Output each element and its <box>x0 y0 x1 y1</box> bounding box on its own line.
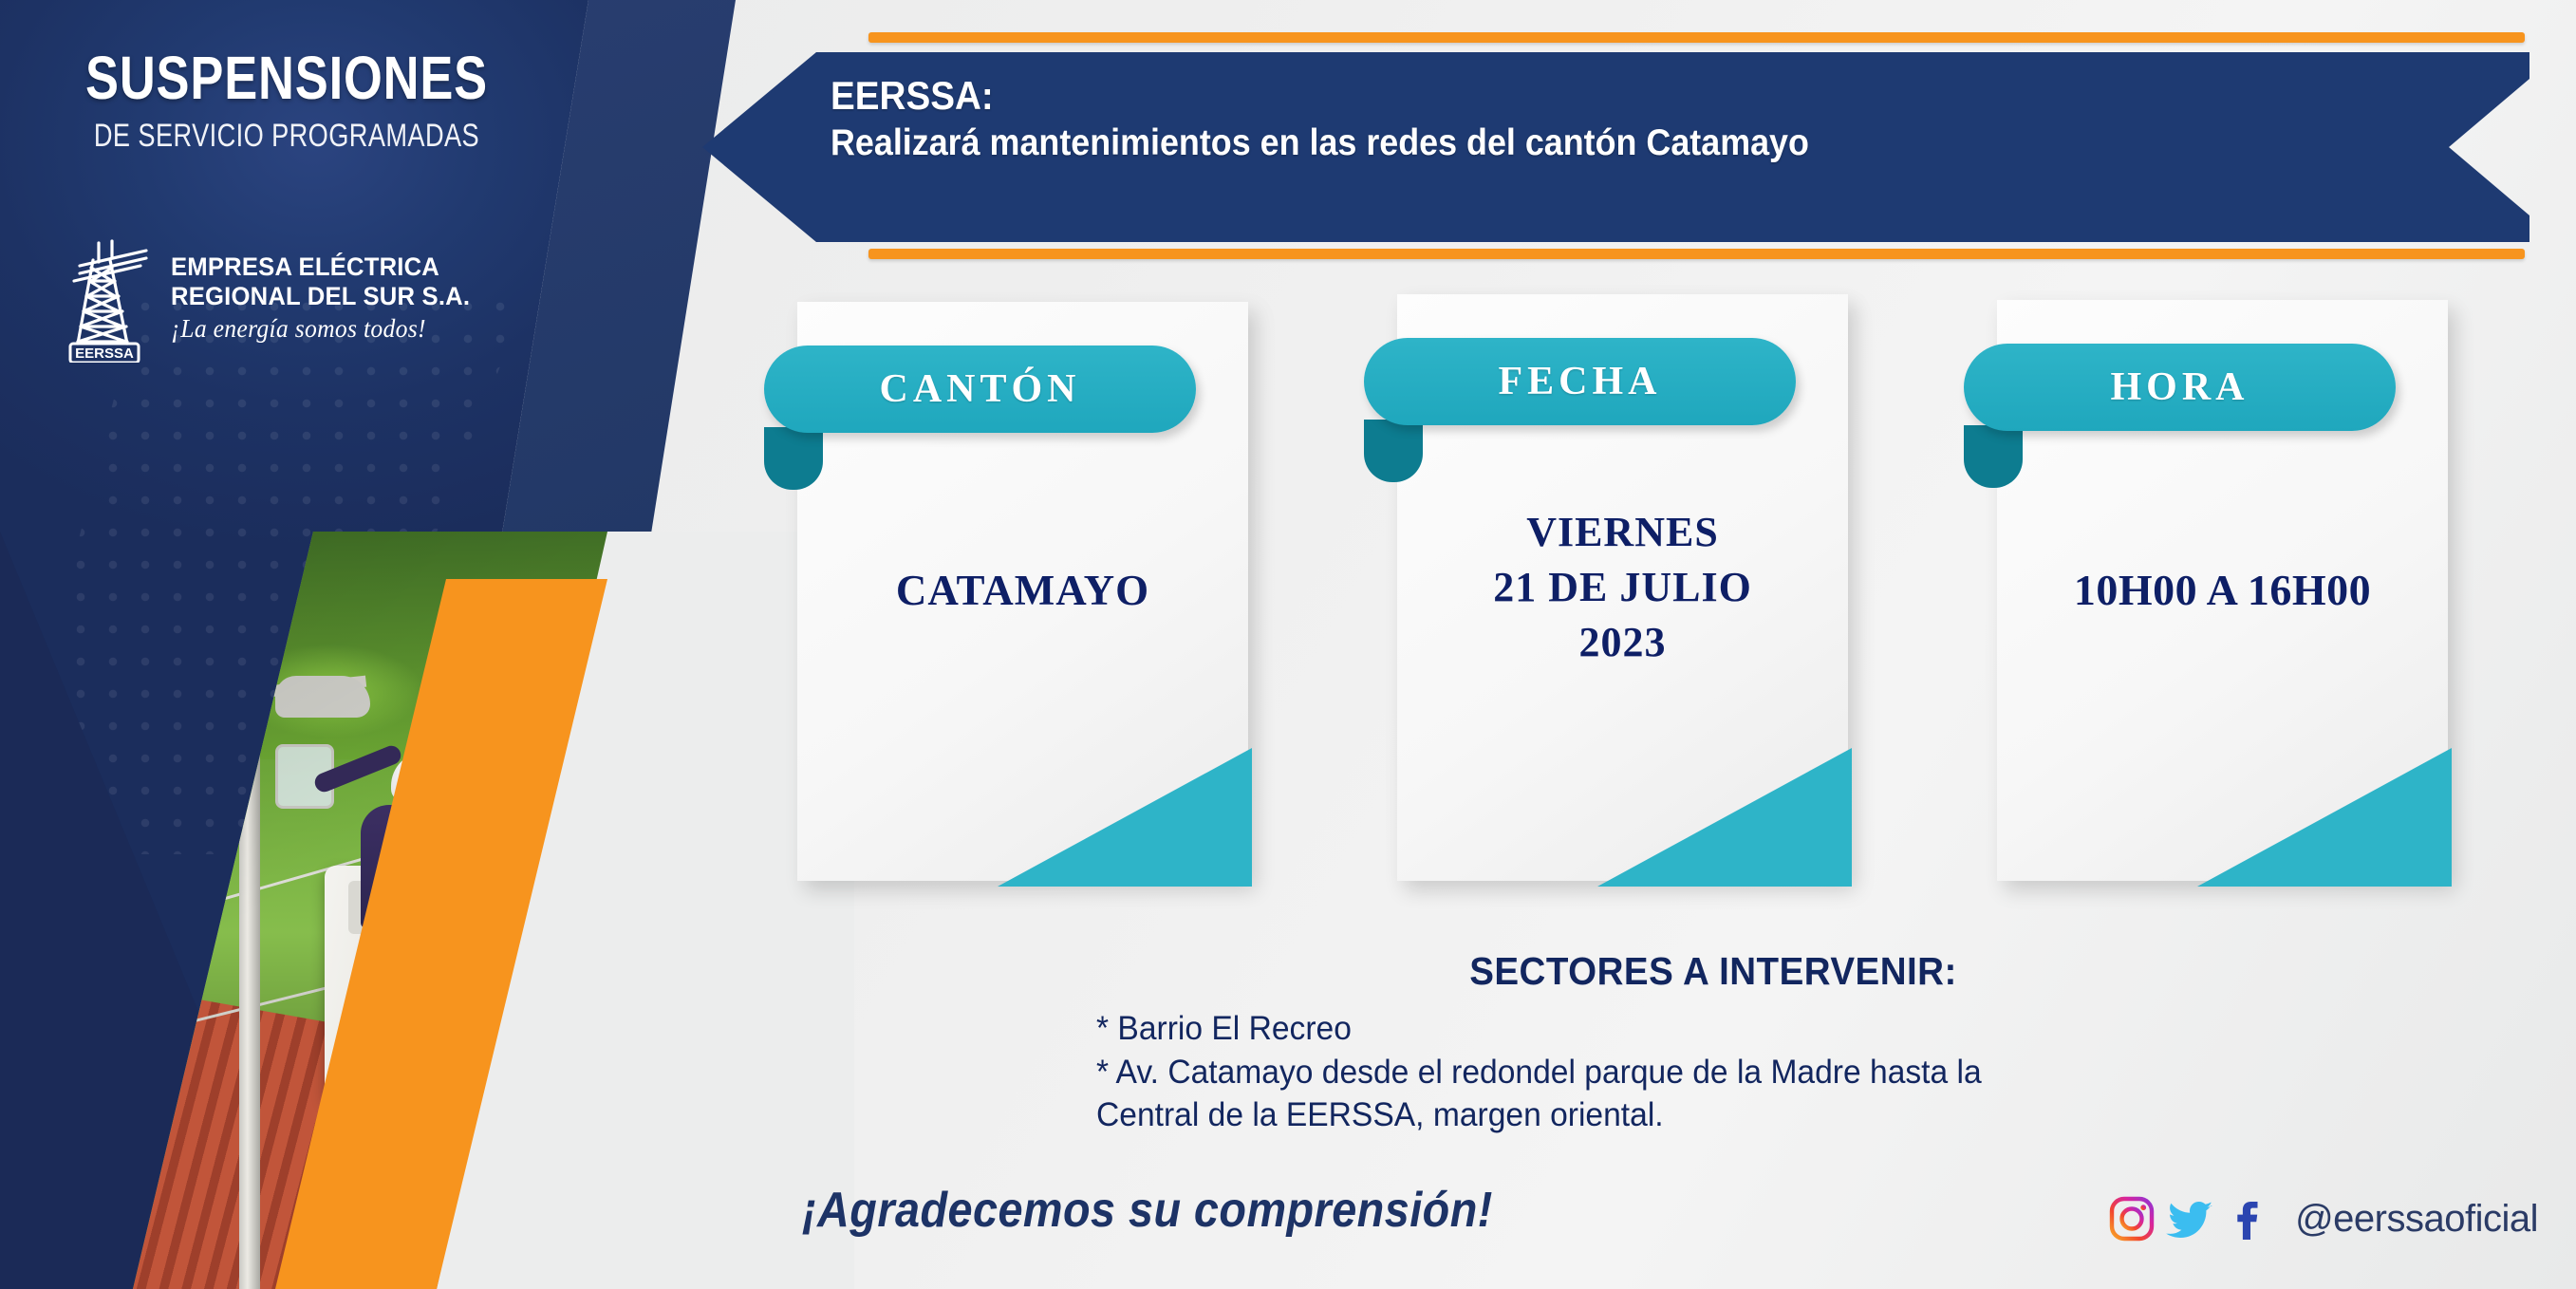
poster-canvas: SUSPENSIONES DE SERVICIO PROGRAMADAS <box>0 0 2576 1289</box>
info-card-fecha: FECHA VIERNES 21 DE JULIO 2023 <box>1397 294 1848 881</box>
card-label-text: CANTÓN <box>879 366 1080 412</box>
left-brand-panel: SUSPENSIONES DE SERVICIO PROGRAMADAS <box>0 0 854 1289</box>
social-media-group: @eerssaoficial <box>2107 1194 2538 1243</box>
transmission-tower-icon: EERSSA <box>55 237 154 363</box>
page-title: SUSPENSIONES <box>84 47 489 108</box>
instagram-icon[interactable] <box>2107 1194 2156 1243</box>
card-label-text: HORA <box>2111 364 2249 410</box>
eerssa-logo: EERSSA EMPRESA ELÉCTRICA REGIONAL DEL SU… <box>55 237 486 363</box>
orange-bar-bottom <box>868 249 2525 259</box>
info-cards: CANTÓN CATAMAYO FECHA VIERNES 21 DE JULI… <box>797 302 2430 890</box>
banner-headline: EERSSA: <box>831 71 2140 120</box>
card-label-hora: HORA <box>1964 344 2396 431</box>
logo-mark-text: EERSSA <box>75 346 134 362</box>
info-card-canton: CANTÓN CATAMAYO <box>797 302 1248 881</box>
sectors-title: SECTORES A INTERVENIR: <box>1133 949 2293 994</box>
card-label-fecha: FECHA <box>1364 338 1796 425</box>
company-name-line2: REGIONAL DEL SUR S.A. <box>171 282 470 311</box>
card-label-text: FECHA <box>1499 359 1662 404</box>
info-card-hora: HORA 10H00 A 16H00 <box>1997 300 2448 881</box>
banner-description: Realizará mantenimientos en las redes de… <box>831 120 2140 167</box>
facebook-icon[interactable] <box>2225 1194 2274 1243</box>
page-subtitle: DE SERVICIO PROGRAMADAS <box>89 120 484 152</box>
ribbon-fold <box>764 427 823 490</box>
banner-text-block: EERSSA: Realizará mantenimientos en las … <box>831 71 2254 167</box>
sectors-section: SECTORES A INTERVENIR: * Barrio El Recre… <box>1096 949 2330 1137</box>
sector-item: * Av. Catamayo desde el redondel parque … <box>1096 1051 2281 1137</box>
thanks-message: ¡Agradecemos su comprensión! <box>802 1182 1493 1239</box>
sector-item: * Barrio El Recreo <box>1096 1007 2281 1051</box>
company-slogan: ¡La energía somos todos! <box>171 314 470 344</box>
ribbon-fold <box>1964 425 2023 488</box>
social-handle[interactable]: @eerssaoficial <box>2295 1198 2538 1241</box>
card-label-canton: CANTÓN <box>764 346 1196 433</box>
company-name-line1: EMPRESA ELÉCTRICA <box>171 252 470 282</box>
orange-bar-top <box>868 32 2525 43</box>
twitter-icon[interactable] <box>2166 1194 2215 1243</box>
ribbon-fold <box>1364 420 1423 482</box>
